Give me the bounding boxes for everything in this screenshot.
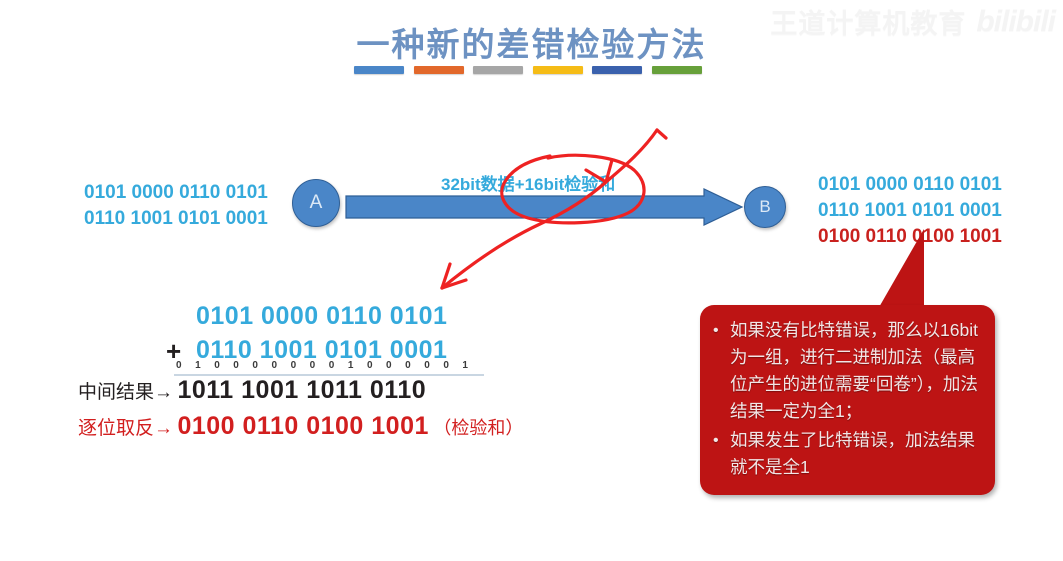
callout-bullet-1: 如果没有比特错误，那么以16bit为一组，进行二进制加法（最高位产生的进位需要“…: [730, 317, 981, 425]
title-bar-6: [652, 66, 702, 74]
carry-bit: 1: [195, 360, 201, 371]
carry-bit: 0: [291, 360, 297, 371]
callout-bullet-2: 如果发生了比特错误，加法结果就不是全1: [730, 427, 981, 481]
title-bar-3: [473, 66, 523, 74]
title-bar-1: [354, 66, 404, 74]
receiver-data-line-1: 0101 0000 0110 0101: [818, 172, 1002, 198]
sender-data-block: 0101 0000 0110 0101 0110 1001 0101 0001: [84, 180, 268, 232]
title-bar-2: [414, 66, 464, 74]
intermediate-result-value: 1011 1001 1011 0110: [177, 376, 426, 404]
callout-tail: [878, 229, 924, 309]
carry-bit: 0: [443, 360, 449, 371]
node-b-label: B: [759, 197, 770, 217]
inverted-result-label: 逐位取反→: [78, 418, 173, 439]
receiver-data-line-2: 0110 1001 0101 0001: [818, 198, 1002, 224]
sender-data-line-1: 0101 0000 0110 0101: [84, 180, 268, 206]
carry-bit: 0: [252, 360, 258, 371]
calc-operand-1: 0101 0000 0110 0101: [196, 302, 447, 331]
sender-data-line-2: 0110 1001 0101 0001: [84, 206, 268, 232]
node-b: B: [744, 186, 786, 228]
inverted-result-note: （检验和）: [433, 418, 523, 438]
carry-bit: 1: [348, 360, 354, 371]
callout-body: 如果没有比特错误，那么以16bit为一组，进行二进制加法（最高位产生的进位需要“…: [700, 305, 995, 495]
title-underline-bars: [354, 66, 702, 74]
link-label: 32bit数据+16bit检验和: [441, 170, 615, 195]
callout-bullet-list: 如果没有比特错误，那么以16bit为一组，进行二进制加法（最高位产生的进位需要“…: [700, 305, 995, 481]
page-title: 一种新的差错检验方法: [0, 18, 1063, 66]
carry-bit: 0: [233, 360, 239, 371]
title-bar-4: [533, 66, 583, 74]
slide-canvas: 王道计算机教育 bilibili 一种新的差错检验方法 0101 0000 01…: [0, 0, 1063, 561]
explanation-callout: 如果没有比特错误，那么以16bit为一组，进行二进制加法（最高位产生的进位需要“…: [700, 305, 995, 495]
node-a: A: [292, 179, 340, 227]
title-bar-5: [592, 66, 642, 74]
carry-bit: 0: [176, 360, 182, 371]
carry-bit: 0: [329, 360, 335, 371]
carry-bit: 0: [214, 360, 220, 371]
carry-bit: 0: [367, 360, 373, 371]
inverted-result-row: 逐位取反→ 0100 0110 0100 1001 （检验和）: [78, 412, 523, 441]
intermediate-result-label: 中间结果→: [78, 382, 173, 403]
carry-bit: 0: [424, 360, 430, 371]
carry-bit: 0: [386, 360, 392, 371]
node-a-label: A: [310, 192, 323, 214]
carry-bit: 0: [405, 360, 411, 371]
carry-bit: 0: [271, 360, 277, 371]
carry-bit: 1: [462, 360, 468, 371]
calc-carry-row: 0 1 0 0 0 0 0 0 0 1 0 0 0 0 0 1: [176, 360, 468, 371]
carry-bit: 0: [310, 360, 316, 371]
intermediate-result-row: 中间结果→ 1011 1001 1011 0110: [78, 376, 426, 405]
inverted-result-value: 0100 0110 0100 1001: [177, 412, 428, 440]
